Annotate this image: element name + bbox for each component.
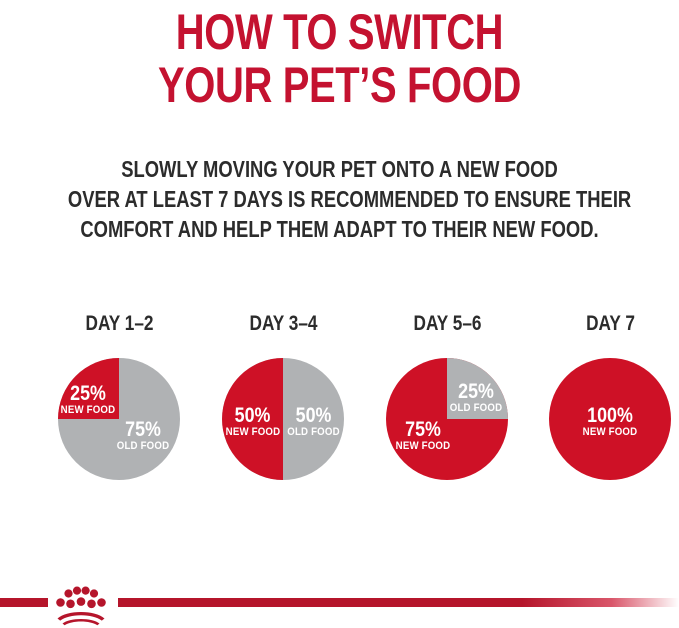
pie-chart-day-5-6: DAY 5–6 25% OLD FOOD 75% NEW FOOD (366, 312, 529, 492)
subtitle: SLOWLY MOVING YOUR PET ONTO A NEW FOOD O… (0, 154, 679, 244)
pie-graphic-1: 25% NEW FOOD 75% OLD FOOD (58, 358, 180, 480)
slice-new-food-1 (58, 358, 119, 419)
pie-chart-row: DAY 1–2 25% NEW FOOD 75% OLD FOOD (0, 312, 679, 492)
slice-new-food-4 (549, 358, 671, 480)
pie-chart-day-7: DAY 7 100% NEW FOOD (529, 312, 679, 492)
title-line-2: YOUR PET’S FOOD (68, 59, 611, 112)
subtitle-line-3: COMFORT AND HELP THEM ADAPT TO THEIR NEW… (68, 214, 611, 244)
subtitle-line-1: SLOWLY MOVING YOUR PET ONTO A NEW FOOD (68, 154, 611, 184)
infographic-root: HOW TO SWITCH YOUR PET’S FOOD SLOWLY MOV… (0, 0, 679, 628)
footer-bar-left (0, 598, 48, 607)
footer-bar-right (118, 598, 679, 607)
pie-graphic-3: 25% OLD FOOD 75% NEW FOOD (386, 358, 508, 480)
slice-old-food-3 (447, 358, 508, 419)
page-title: HOW TO SWITCH YOUR PET’S FOOD (0, 6, 679, 112)
day-label-2: DAY 3–4 (217, 312, 351, 336)
pie-chart-day-1-2: DAY 1–2 25% NEW FOOD 75% OLD FOOD (38, 312, 201, 492)
day-label-1: DAY 1–2 (53, 312, 187, 336)
day-label-4: DAY 7 (544, 312, 678, 336)
pie-graphic-2: 50% NEW FOOD 50% OLD FOOD (222, 358, 344, 480)
slice-new-food-2 (222, 358, 283, 480)
day-label-3: DAY 5–6 (381, 312, 515, 336)
royal-canin-crown-icon (45, 582, 117, 626)
footer (0, 580, 679, 628)
subtitle-line-2: OVER AT LEAST 7 DAYS IS RECOMMENDED TO E… (68, 184, 611, 214)
title-line-1: HOW TO SWITCH (68, 6, 611, 59)
pie-graphic-4: 100% NEW FOOD (549, 358, 671, 480)
pie-chart-day-3-4: DAY 3–4 50% NEW FOOD 50% OLD FOOD (202, 312, 365, 492)
